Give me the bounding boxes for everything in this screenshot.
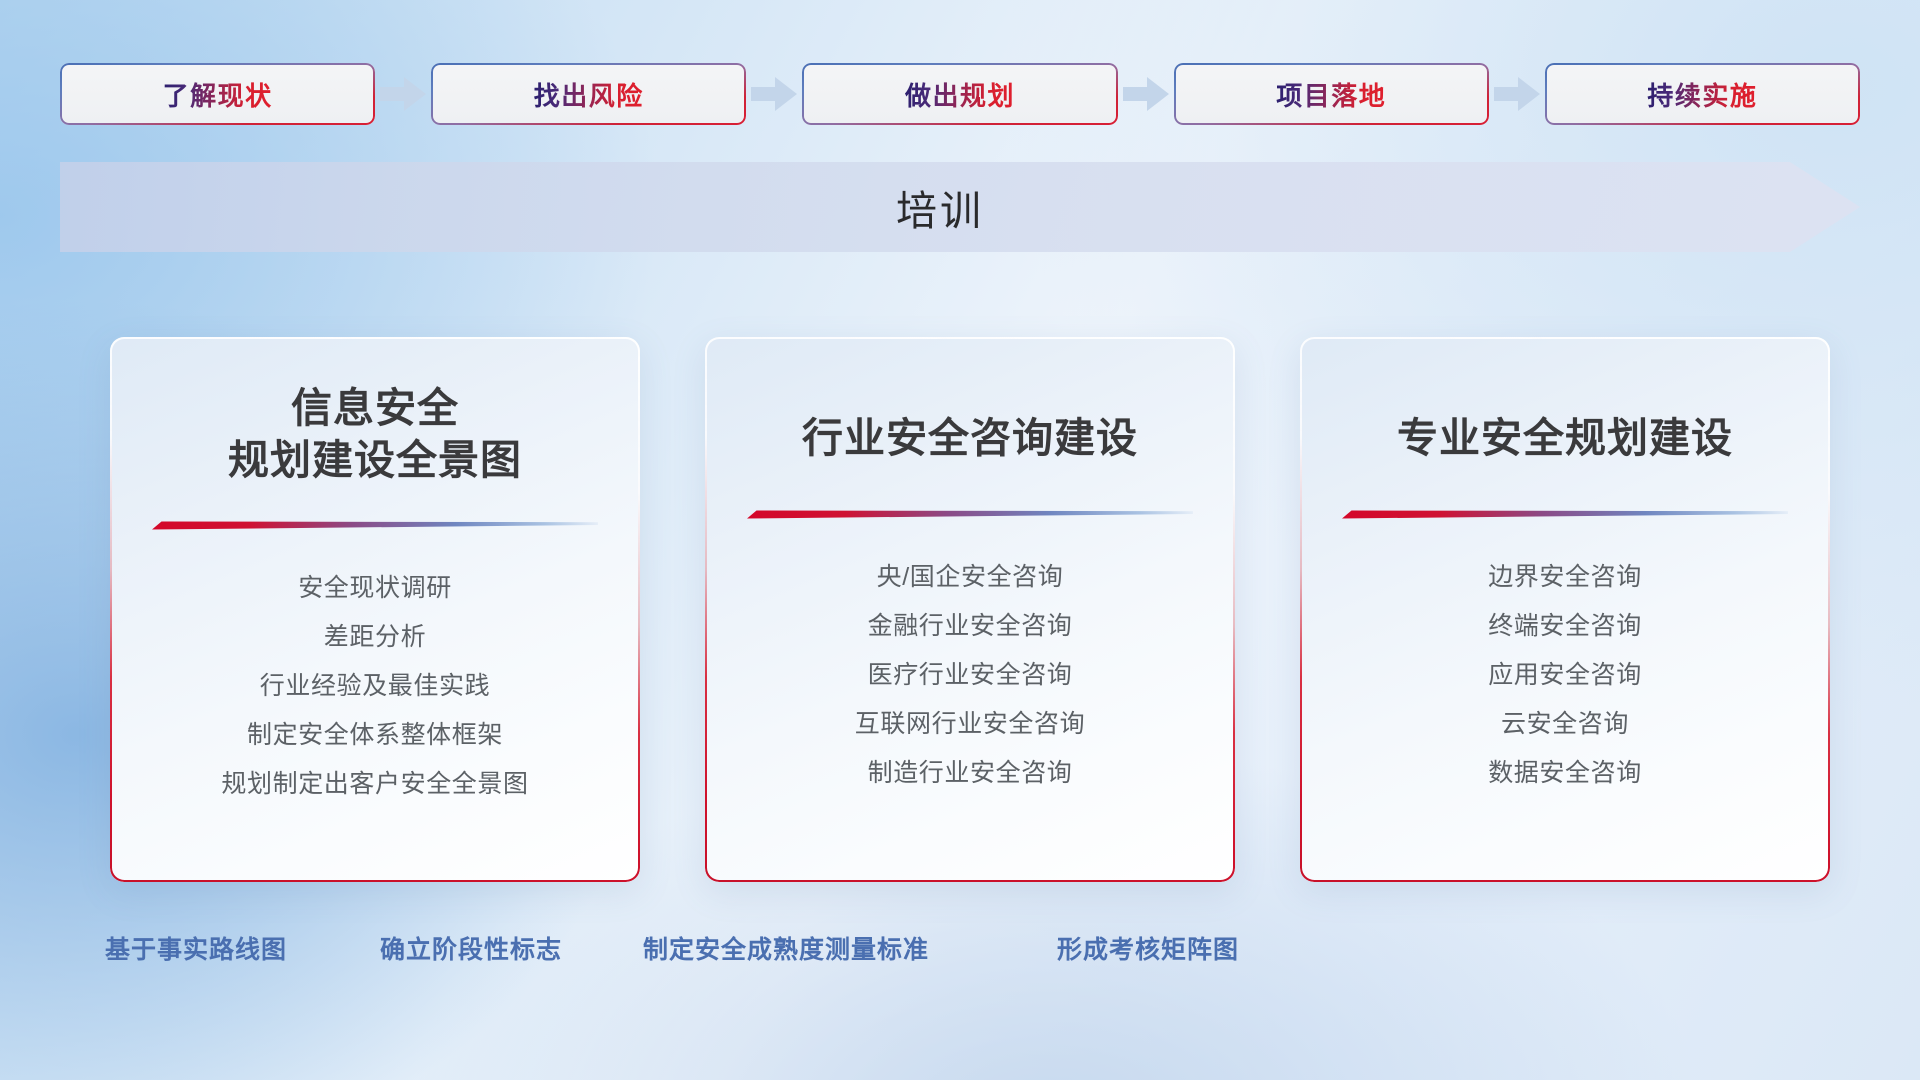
step-label: 项目落地	[1276, 76, 1386, 113]
tapered-gradient-divider-icon	[747, 507, 1193, 521]
tapered-gradient-divider-icon	[1342, 507, 1788, 521]
list-item: 应用安全咨询	[1330, 651, 1800, 700]
step-label: 持续实施	[1647, 76, 1757, 113]
caption-row: 基于事实路线图 确立阶段性标志 制定安全成熟度测量标准 形成考核矩阵图	[0, 930, 1920, 976]
arrow-right-icon	[1489, 74, 1545, 114]
card-item-list: 边界安全咨询 终端安全咨询 应用安全咨询 云安全咨询 数据安全咨询	[1330, 553, 1800, 798]
step-label: 了解现状	[163, 76, 273, 113]
card-professional-security-planning[interactable]: 专业安全规划建设	[1300, 337, 1830, 882]
arrow-right-icon	[746, 74, 802, 114]
step-box-3[interactable]: 做出规划	[802, 63, 1117, 125]
step-box-1[interactable]: 了解现状	[60, 63, 375, 125]
process-step-row: 了解现状 找出风险 做出规划 项目落地	[60, 63, 1860, 125]
list-item: 金融行业安全咨询	[735, 602, 1205, 651]
list-item: 制定安全体系整体框架	[140, 711, 610, 760]
list-item: 央/国企安全咨询	[735, 553, 1205, 602]
caption-phase-milestones: 确立阶段性标志	[380, 930, 562, 966]
step-box-2[interactable]: 找出风险	[431, 63, 746, 125]
card-item-list: 央/国企安全咨询 金融行业安全咨询 医疗行业安全咨询 互联网行业安全咨询 制造行…	[735, 553, 1205, 798]
card-title: 行业安全咨询建设	[735, 413, 1205, 465]
training-banner: 培训	[60, 162, 1860, 252]
card-title: 信息安全 规划建设全景图	[140, 383, 610, 486]
step-box-5[interactable]: 持续实施	[1545, 63, 1860, 125]
tapered-gradient-divider-icon	[152, 518, 598, 532]
slide-canvas: 了解现状 找出风险 做出规划 项目落地	[0, 0, 1920, 1080]
caption-fact-based-roadmap: 基于事实路线图	[105, 930, 287, 966]
step-box-4[interactable]: 项目落地	[1174, 63, 1489, 125]
card-item-list: 安全现状调研 差距分析 行业经验及最佳实践 制定安全体系整体框架 规划制定出客户…	[140, 564, 610, 809]
list-item: 差距分析	[140, 613, 610, 662]
list-item: 互联网行业安全咨询	[735, 700, 1205, 749]
arrow-right-icon	[375, 74, 431, 114]
list-item: 医疗行业安全咨询	[735, 651, 1205, 700]
card-row: 信息安全 规划建设全景图	[110, 337, 1830, 882]
step-label: 找出风险	[534, 76, 644, 113]
list-item: 行业经验及最佳实践	[140, 662, 610, 711]
step-label: 做出规划	[905, 76, 1015, 113]
list-item: 终端安全咨询	[1330, 602, 1800, 651]
card-industry-security-consulting[interactable]: 行业安全咨询建设	[705, 337, 1235, 882]
card-information-security-blueprint[interactable]: 信息安全 规划建设全景图	[110, 337, 640, 882]
list-item: 规划制定出客户安全全景图	[140, 760, 610, 809]
banner-title: 培训	[60, 162, 1860, 252]
list-item: 边界安全咨询	[1330, 553, 1800, 602]
caption-maturity-standard: 制定安全成熟度测量标准	[643, 930, 929, 966]
arrow-right-icon	[1118, 74, 1174, 114]
list-item: 制造行业安全咨询	[735, 749, 1205, 798]
list-item: 安全现状调研	[140, 564, 610, 613]
list-item: 数据安全咨询	[1330, 749, 1800, 798]
caption-assessment-matrix: 形成考核矩阵图	[1057, 930, 1239, 966]
list-item: 云安全咨询	[1330, 700, 1800, 749]
card-title: 专业安全规划建设	[1330, 413, 1800, 465]
